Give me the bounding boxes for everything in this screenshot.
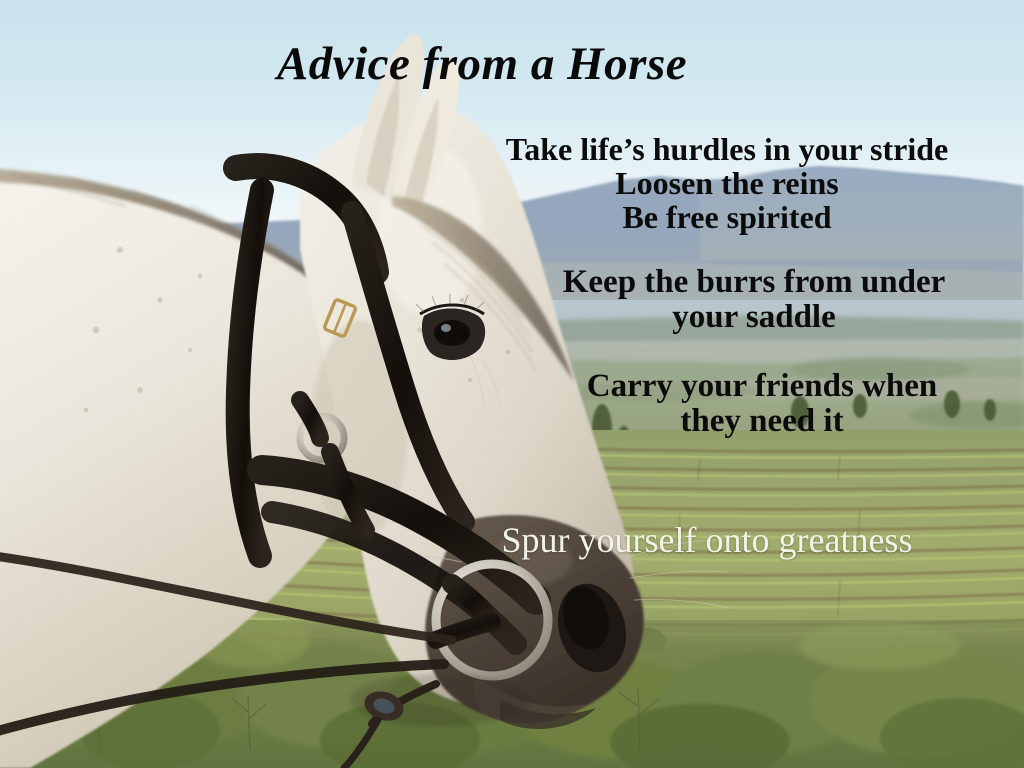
page-title: Advice from a Horse: [0, 40, 1024, 89]
poem-stanza-1: Take life’s hurdles in your stride Loose…: [430, 133, 1024, 235]
poem-line: Carry your friends when: [500, 369, 1024, 404]
scrub-bushes-icon: [0, 620, 1024, 768]
poem-line: your saddle: [484, 300, 1024, 335]
foreground-scrub: [0, 620, 1024, 768]
poem-stanza-2: Keep the burrs from under your saddle: [484, 265, 1024, 335]
poem-stanza-3: Carry your friends when they need it: [500, 369, 1024, 439]
poem-line: Spur yourself onto greatness: [390, 521, 1024, 559]
poster-image: Advice from a Horse Take life’s hurdles …: [0, 0, 1024, 768]
poem-line: they need it: [500, 404, 1024, 439]
poem-line: Loosen the reins: [430, 167, 1024, 201]
poem-line: Keep the burrs from under: [484, 265, 1024, 300]
poem-line: Be free spirited: [430, 201, 1024, 235]
poem-line: Take life’s hurdles in your stride: [430, 133, 1024, 167]
poem-stanza-4: Spur yourself onto greatness: [390, 521, 1024, 559]
